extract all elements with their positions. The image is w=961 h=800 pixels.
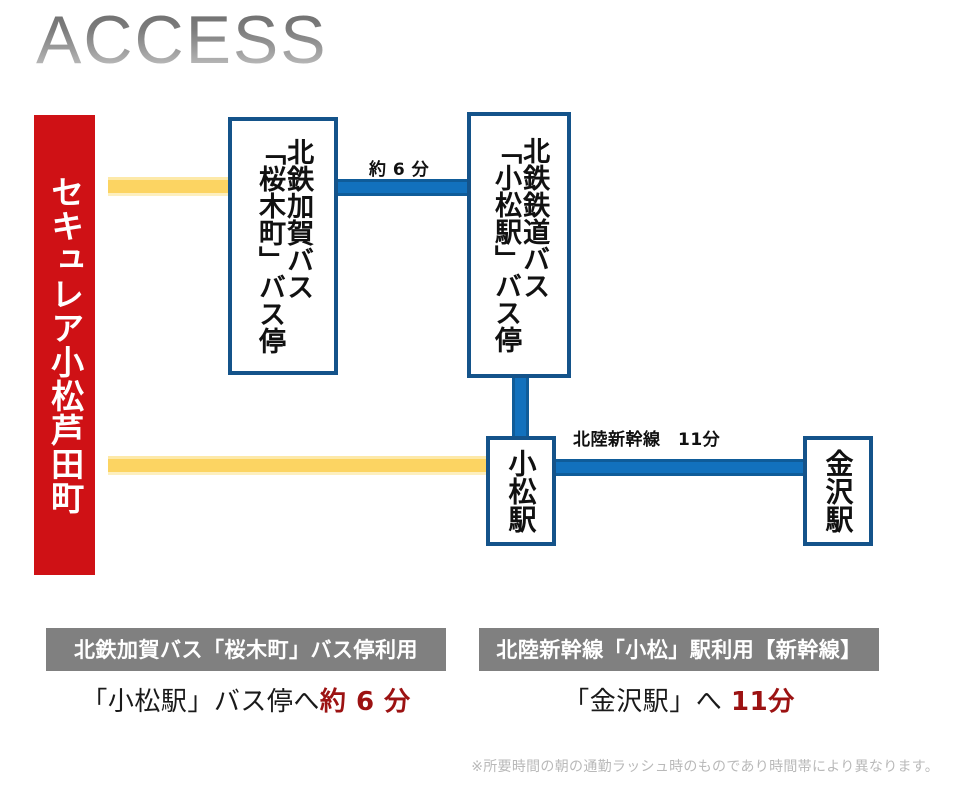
footnote: ※所要時間の朝の通勤ラッシュ時のものであり時間帯により異なります。 <box>471 756 939 776</box>
summary-detail-accent: 11分 <box>731 687 795 717</box>
node-label: 北鉄鉄道バス 「小松駅」バス停 <box>491 137 547 353</box>
summary-heading: 北鉄加賀バス「桜木町」バス停利用 <box>46 628 446 671</box>
node-label: 金沢駅 <box>823 449 852 533</box>
summary-detail: 「小松駅」バス停へ約 6 分 <box>46 681 446 718</box>
summary-bus-route: 北鉄加賀バス「桜木町」バス停利用 「小松駅」バス停へ約 6 分 <box>46 628 446 718</box>
walk-line-origin-to-sakuragicho <box>108 177 236 196</box>
bus-line-sakuragicho-to-komatsu <box>334 179 474 196</box>
access-diagram-page: ACCESS セキュレア小松芦田町 北鉄加賀バス 「桜木町」バス停 北鉄鉄道バス… <box>0 0 961 800</box>
shinkansen-line-komatsu-to-kanazawa <box>556 459 806 476</box>
walk-line-origin-to-komatsu-station <box>108 456 488 475</box>
summary-detail-accent: 約 6 分 <box>320 687 411 717</box>
page-title: ACCESS <box>36 6 328 74</box>
node-kanazawa-station[interactable]: 金沢駅 <box>803 436 873 546</box>
summary-detail-prefix: 「金沢駅」へ <box>563 687 731 717</box>
edge-label-shinkansen-duration: 北陸新幹線 11分 <box>573 425 720 450</box>
node-komatsu-station[interactable]: 小松駅 <box>486 436 556 546</box>
summary-shinkansen-route: 北陸新幹線「小松」駅利用【新幹線】 「金沢駅」へ 11分 <box>479 628 879 718</box>
node-label: 北鉄加賀バス 「桜木町」バス停 <box>255 138 311 354</box>
edge-label-bus-duration: 約 6 分 <box>369 155 429 180</box>
node-sakuragicho-bus-stop[interactable]: 北鉄加賀バス 「桜木町」バス停 <box>228 117 338 375</box>
origin-banner-label: セキュレア小松芦田町 <box>44 175 84 515</box>
summary-detail: 「金沢駅」へ 11分 <box>479 681 879 718</box>
summary-heading: 北陸新幹線「小松」駅利用【新幹線】 <box>479 628 879 671</box>
node-komatsueki-bus-stop[interactable]: 北鉄鉄道バス 「小松駅」バス停 <box>467 112 571 378</box>
node-label: 小松駅 <box>506 449 535 533</box>
origin-banner: セキュレア小松芦田町 <box>32 113 97 577</box>
summary-detail-prefix: 「小松駅」バス停へ <box>81 687 320 717</box>
